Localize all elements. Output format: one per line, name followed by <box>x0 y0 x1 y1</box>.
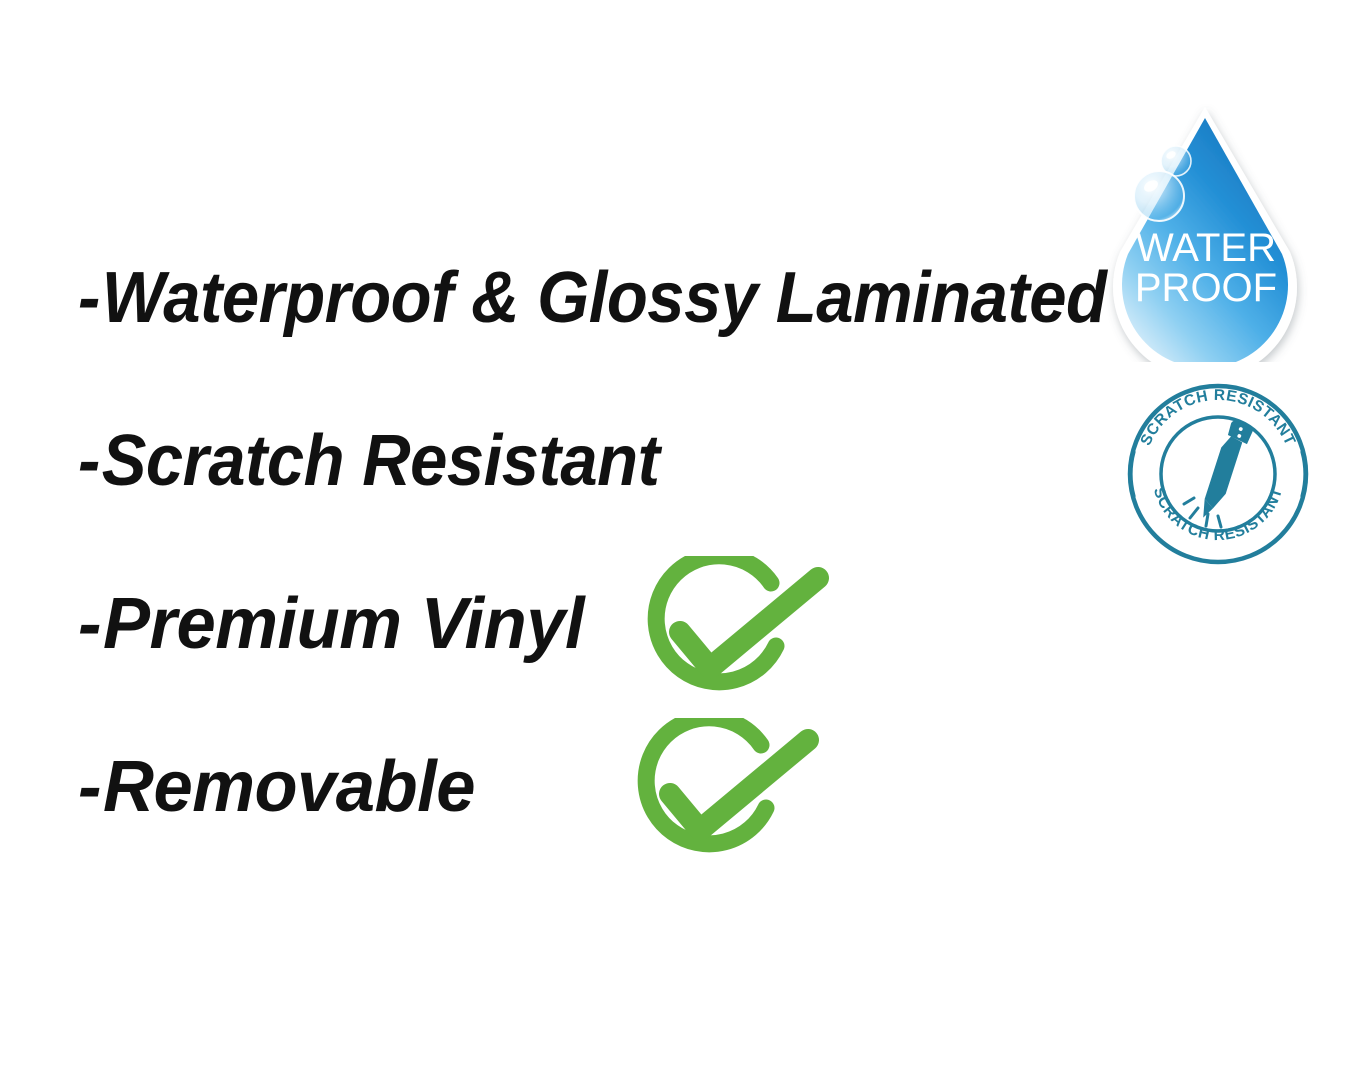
feature-item-scratch-resistant: -Scratch Resistant <box>78 425 659 497</box>
waterproof-line-2: PROOF <box>1135 266 1277 310</box>
feature-label: Scratch Resistant <box>102 421 660 501</box>
feature-item-removable: -Removable <box>78 751 475 823</box>
scratch-resistant-stamp-badge: SCRATCH RESISTANT SCRATCH RESISTANT <box>1122 378 1314 570</box>
feature-bullet-dash: - <box>78 751 101 823</box>
feature-bullet-dash: - <box>78 425 100 497</box>
waterproof-drop-badge: WATER PROOF <box>1102 104 1308 362</box>
knife-icon <box>1197 419 1254 523</box>
feature-item-waterproof: -Waterproof & Glossy Laminated <box>78 262 1106 334</box>
check-stroke <box>680 578 818 668</box>
waterproof-line-1: WATER <box>1136 226 1276 270</box>
bubble-icon-large <box>1134 171 1184 221</box>
feature-label: Waterproof & Glossy Laminated <box>102 258 1107 338</box>
feature-bullet-dash: - <box>78 262 100 334</box>
check-stroke <box>670 740 808 830</box>
feature-label: Removable <box>103 747 475 827</box>
check-mark-icon <box>628 718 824 876</box>
feature-bullet-dash: - <box>78 588 101 660</box>
feature-item-premium-vinyl: -Premium Vinyl <box>78 588 584 660</box>
feature-label: Premium Vinyl <box>103 584 584 664</box>
product-features-graphic: -Waterproof & Glossy Laminated -Scratch … <box>0 0 1359 1080</box>
check-mark-icon <box>638 556 834 714</box>
